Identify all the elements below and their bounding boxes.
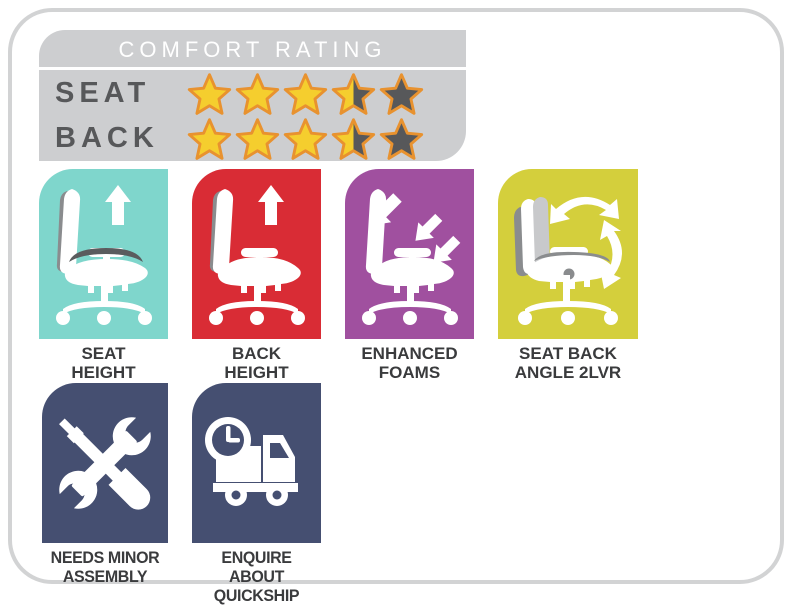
star-1-back [187,117,232,160]
rating-stars-seat [187,72,424,115]
chair-tilt-arrows-icon [498,169,638,339]
chair-inward-arrows-icon [345,169,474,339]
comfort-rating-title: COMFORT RATING [39,37,466,63]
star-5-seat-empty [379,72,424,115]
comfort-rating-header: COMFORT RATING [39,30,466,67]
feature-tile-enquire-about-quickship[interactable]: ENQUIRE ABOUT QUICKSHIP [192,383,321,605]
star-5-back-empty [379,117,424,160]
star-1-seat [187,72,232,115]
star-2-back [235,117,280,160]
truck-clock-icon [192,383,321,543]
comfort-rating-body: SEAT [39,70,466,161]
feature-label-needs-minor-assembly: NEEDS MINOR ASSEMBLY [46,548,164,586]
comfort-rating-panel: COMFORT RATING SEAT [39,30,466,161]
feature-tile-seat-height[interactable]: SEAT HEIGHT [39,169,168,382]
chair-up-arrow-icon [39,169,168,339]
rating-label-back: BACK [39,124,187,153]
feature-tile-needs-minor-assembly[interactable]: NEEDS MINOR ASSEMBLY [42,383,168,586]
rating-label-seat: SEAT [39,79,187,108]
star-2-seat [235,72,280,115]
rating-row-seat: SEAT [39,71,466,116]
star-3-back [283,117,328,160]
feature-tile-seat-back-angle[interactable]: SEAT BACK ANGLE 2LVR [498,169,638,382]
feature-label-seat-back-angle: SEAT BACK ANGLE 2LVR [498,344,638,382]
feature-label-seat-height: SEAT HEIGHT [39,344,168,382]
wrench-screwdriver-icon [42,383,168,543]
star-3-seat [283,72,328,115]
rating-stars-back [187,117,424,160]
product-feature-card: COMFORT RATING SEAT [8,8,784,584]
star-4-back-half [331,117,376,160]
feature-label-back-height: BACK HEIGHT [192,344,321,382]
feature-label-enquire-about-quickship: ENQUIRE ABOUT QUICKSHIP [196,548,317,605]
feature-label-enhanced-foams: ENHANCED FOAMS [345,344,474,382]
feature-tile-back-height[interactable]: BACK HEIGHT [192,169,321,382]
rating-row-back: BACK [39,116,466,161]
chair-back-up-arrow-icon [192,169,321,339]
star-4-seat-half [331,72,376,115]
feature-tile-enhanced-foams[interactable]: ENHANCED FOAMS [345,169,474,382]
